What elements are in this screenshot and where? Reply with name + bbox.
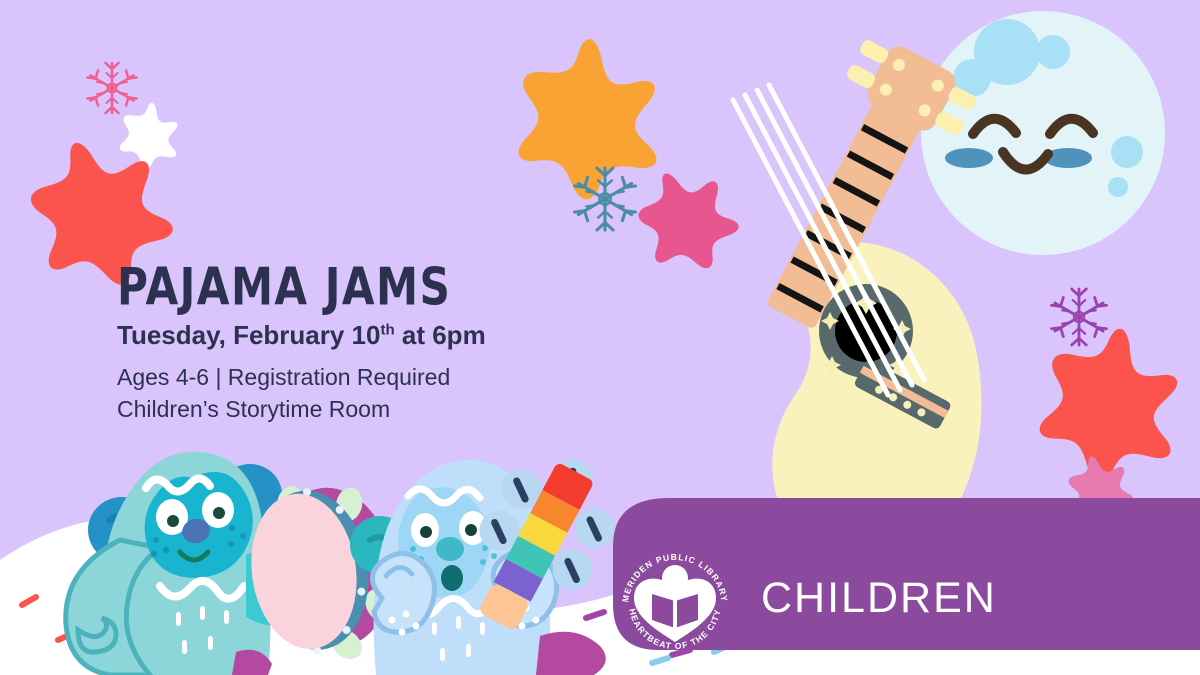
blue-yeti-nose [436,537,464,561]
moon-crater-right-small [1108,177,1128,197]
yeti-pupil-left [167,515,179,527]
moon-blush-left [945,148,993,168]
yeti-pupil-right [213,507,225,519]
event-date-ordinal: th [380,321,394,338]
blue-yeti-mouth [441,565,463,591]
moon-crater-medium [1036,35,1070,69]
event-date: Tuesday, February 10th at 6pm [117,321,637,351]
category-label: CHILDREN [761,574,997,623]
event-detail-line-1: Ages 4-6 | Registration Required [117,361,637,394]
moon-crater-right [1111,136,1143,168]
event-date-prefix: Tuesday, February 10 [117,320,380,350]
event-detail-line-2: Children’s Storytime Room [117,393,637,426]
event-text-block: PAJAMA JAMS Tuesday, February 10th at 6p… [117,262,637,426]
blue-yeti-mitten-left [372,553,434,632]
page-title: PAJAMA JAMS [117,262,616,315]
blue-yeti-pupil-right [465,524,477,536]
blue-yeti-pupil-left [420,526,432,538]
event-date-suffix: at 6pm [395,320,486,350]
poster-canvas: MERIDEN PUBLIC LIBRARY HEARTBEAT OF THE … [0,0,1200,675]
